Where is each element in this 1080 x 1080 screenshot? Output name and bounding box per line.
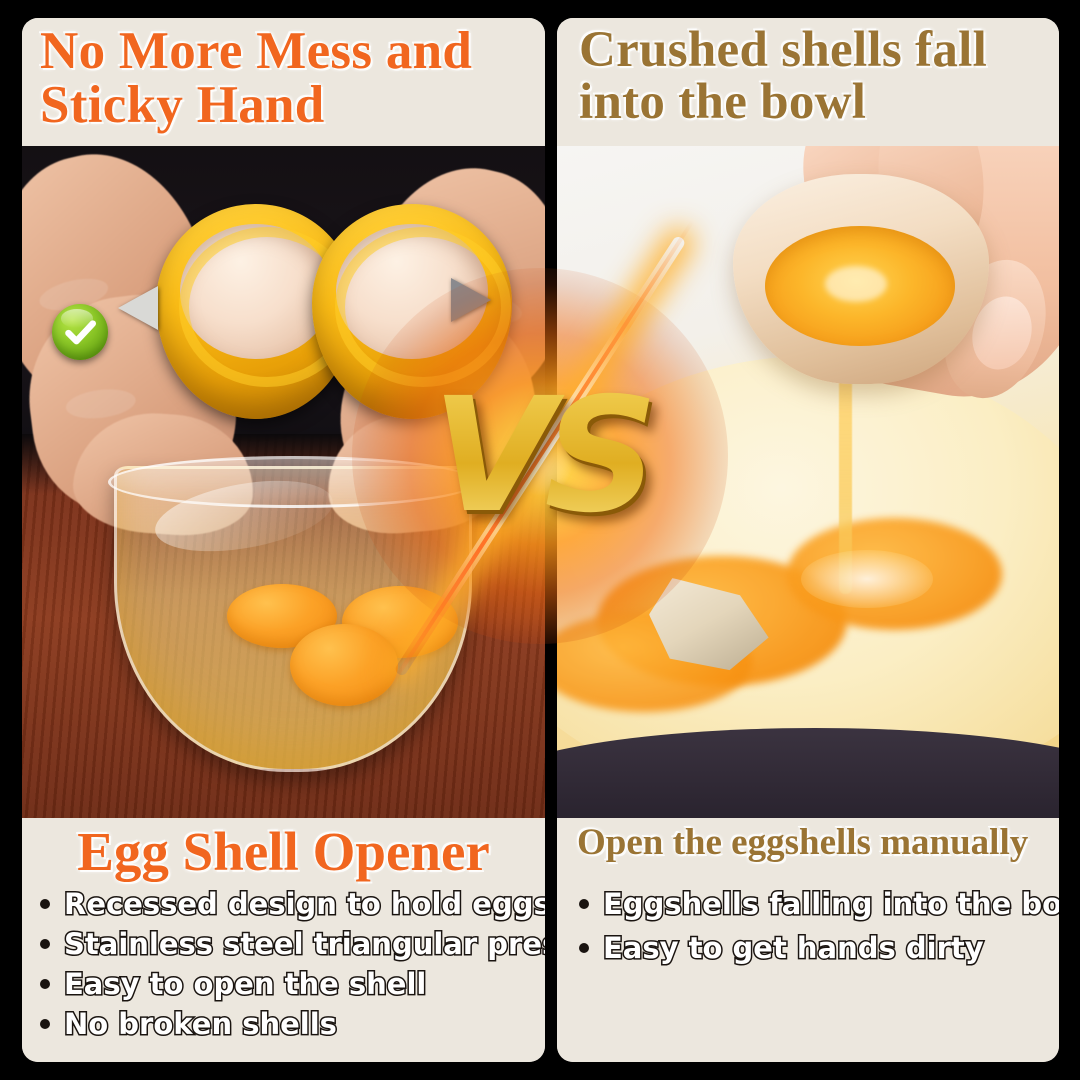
list-item: Easy to get hands dirty: [577, 931, 1049, 965]
right-manual-photo: [557, 146, 1059, 818]
right-panel-manual: Crushed shells fall into the bowl: [557, 18, 1059, 1062]
right-header-line-1: Crushed shells fall: [579, 24, 1045, 76]
right-footer: Open the eggshells manually Eggshells fa…: [557, 818, 1059, 1062]
check-badge-icon: [52, 304, 108, 360]
left-product-title: Egg Shell Opener: [38, 824, 535, 879]
list-item: No broken shells: [38, 1007, 535, 1041]
right-drawback-list: Eggshells falling into the bowl Easy to …: [573, 887, 1049, 965]
left-header-line-1: No More Mess and: [40, 24, 531, 78]
drip-ripple: [801, 550, 933, 608]
steel-press-tab-left: [118, 286, 158, 330]
right-header-line-2: into the bowl: [579, 76, 1045, 128]
left-feature-list: Recessed design to hold eggshells Stainl…: [38, 887, 535, 1041]
left-header-line-2: Sticky Hand: [40, 78, 531, 132]
white-bowl-rim: [557, 728, 1059, 818]
list-item: Recessed design to hold eggshells: [38, 887, 535, 921]
right-method-title: Open the eggshells manually: [573, 824, 1049, 861]
comparison-infographic: No More Mess and Sticky Hand: [0, 0, 1080, 1080]
left-product-photo: [22, 146, 545, 818]
egg-yolk: [290, 624, 398, 706]
list-item: Eggshells falling into the bowl: [577, 887, 1049, 921]
right-panel-header: Crushed shells fall into the bowl: [557, 18, 1059, 146]
steel-press-tab-right: [451, 278, 491, 322]
left-footer: Egg Shell Opener Recessed design to hold…: [22, 818, 545, 1062]
cup-rim-right: [324, 216, 522, 398]
list-item: Stainless steel triangular press: [38, 927, 535, 961]
egg-white-highlight: [825, 266, 887, 302]
list-item: Easy to open the shell: [38, 967, 535, 1001]
left-panel-product: No More Mess and Sticky Hand: [22, 18, 545, 1062]
left-panel-header: No More Mess and Sticky Hand: [22, 18, 545, 146]
